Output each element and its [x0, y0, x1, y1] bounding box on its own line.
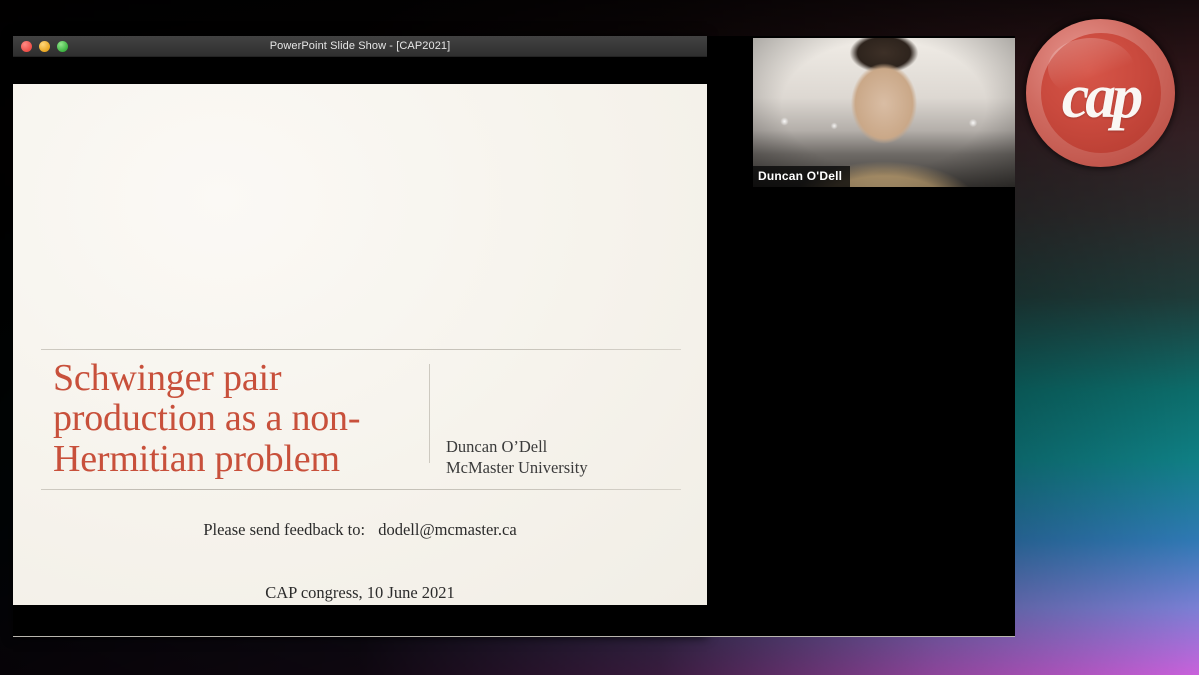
participant-name-label: Duncan O'Dell — [753, 166, 850, 187]
cap-logo-disc: cap — [1041, 33, 1161, 153]
cap-logo: cap — [1026, 19, 1175, 167]
window-controls[interactable] — [21, 41, 68, 52]
desktop-background: PowerPoint Slide Show - [CAP2021] Schwin… — [0, 0, 1199, 675]
page-title: Schwinger pair production as a non-Hermi… — [41, 358, 429, 479]
slideshow-letterbox-bottom — [13, 605, 707, 637]
slideshow-letterbox-top — [13, 57, 707, 84]
feedback-label: Please send feedback to: — [203, 520, 365, 539]
participant-video-tile[interactable]: Duncan O'Dell — [753, 38, 1015, 187]
title-row: Schwinger pair production as a non-Hermi… — [41, 350, 681, 489]
author-affiliation: McMaster University — [446, 457, 588, 478]
feedback-line: Please send feedback to: dodell@mcmaster… — [13, 520, 707, 540]
zoom-button[interactable] — [57, 41, 68, 52]
event-line: CAP congress, 10 June 2021 — [13, 583, 707, 603]
title-rule-bottom — [41, 489, 681, 490]
slide-title-block: Schwinger pair production as a non-Hermi… — [41, 349, 681, 490]
window-title: PowerPoint Slide Show - [CAP2021] — [13, 40, 707, 52]
cap-logo-wordmark: cap — [1062, 66, 1140, 128]
webcam-vignette — [753, 38, 1015, 187]
author-block: Duncan O’Dell McMaster University — [430, 358, 588, 478]
window-titlebar[interactable]: PowerPoint Slide Show - [CAP2021] — [13, 36, 707, 57]
slide-canvas[interactable]: Schwinger pair production as a non-Hermi… — [13, 84, 707, 605]
feedback-email: dodell@mcmaster.ca — [378, 520, 516, 539]
author-name: Duncan O’Dell — [446, 436, 588, 457]
powerpoint-slideshow-window[interactable]: PowerPoint Slide Show - [CAP2021] Schwin… — [13, 36, 707, 637]
video-panel[interactable]: Duncan O'Dell — [707, 36, 1015, 637]
minimize-button[interactable] — [39, 41, 50, 52]
close-button[interactable] — [21, 41, 32, 52]
